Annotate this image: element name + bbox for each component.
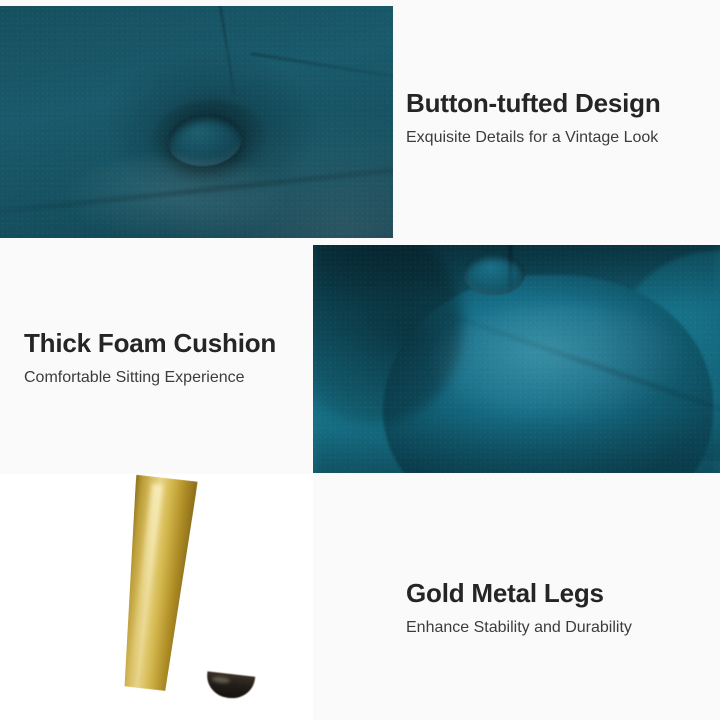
image-gold-metal-leg — [0, 474, 313, 720]
fabric-highlight — [60, 156, 290, 238]
feature-subline: Enhance Stability and Durability — [406, 618, 632, 637]
feature-headline: Button-tufted Design — [406, 88, 661, 119]
cushion-base-shadow — [313, 413, 720, 473]
cushion-highlight — [433, 305, 693, 425]
feature-block-gold-legs: Gold Metal Legs Enhance Stability and Du… — [406, 578, 632, 637]
feature-headline: Gold Metal Legs — [406, 578, 632, 609]
cushion-tuft-button — [463, 253, 525, 295]
infographic-canvas: Button-tufted Design Exquisite Details f… — [0, 0, 720, 720]
image-button-tufted-closeup — [0, 6, 393, 238]
feature-block-thick-foam: Thick Foam Cushion Comfortable Sitting E… — [24, 328, 276, 387]
feature-subline: Exquisite Details for a Vintage Look — [406, 128, 661, 147]
quilting-seam-diagonal — [251, 53, 393, 82]
feature-headline: Thick Foam Cushion — [24, 328, 276, 359]
feature-subline: Comfortable Sitting Experience — [24, 368, 276, 387]
image-thick-cushion-closeup — [313, 245, 720, 473]
feature-block-button-tufted: Button-tufted Design Exquisite Details f… — [406, 88, 661, 147]
quilting-seam-vertical — [215, 6, 236, 95]
cushion-seam-vertical — [509, 245, 512, 293]
leg-foot-cap — [205, 671, 255, 700]
